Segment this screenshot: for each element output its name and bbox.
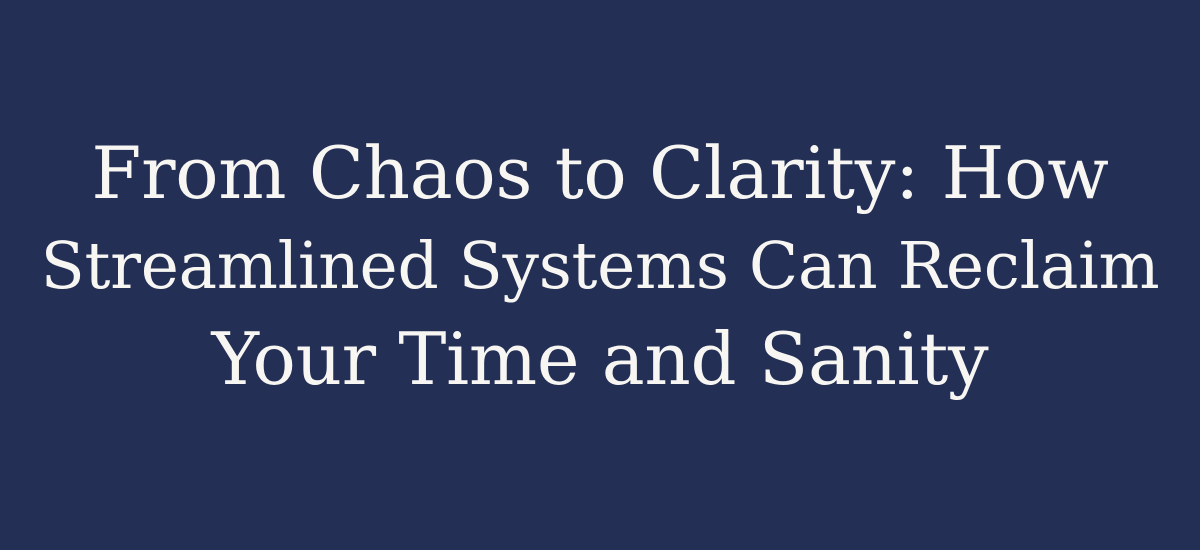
title-card: From Chaos to Clarity: How Streamlined S… bbox=[0, 0, 1200, 550]
headline-line-1: From Chaos to Clarity: How bbox=[40, 127, 1160, 220]
headline-block: From Chaos to Clarity: How Streamlined S… bbox=[40, 127, 1160, 406]
page-title: From Chaos to Clarity: How Streamlined S… bbox=[40, 127, 1160, 406]
headline-line-2: Streamlined Systems Can Reclaim bbox=[40, 220, 1160, 313]
headline-line-3: Your Time and Sanity bbox=[40, 313, 1160, 406]
